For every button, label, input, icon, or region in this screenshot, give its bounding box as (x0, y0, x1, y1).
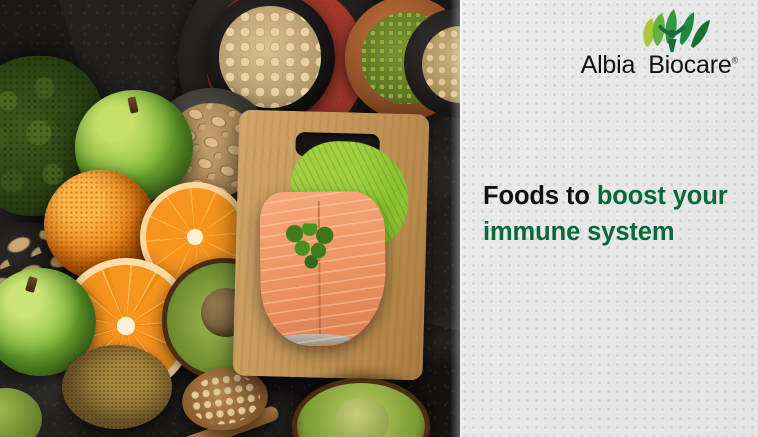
headline-accent-line2: immune system (483, 218, 674, 246)
parsley (285, 223, 344, 273)
registered-trademark-symbol: ® (732, 56, 738, 66)
headline-plain-text: Foods to (483, 182, 597, 210)
brand-name-part2: Biocare (648, 51, 731, 79)
panel-left-edge (460, 0, 462, 437)
soybeans (422, 26, 460, 103)
page-title: Foods to boost your immune system (483, 178, 743, 250)
headline-accent-line1: boost your (597, 182, 728, 210)
immune-foods-banner: AlbiaBiocare® Foods to boost your immune… (0, 0, 758, 437)
content-panel: AlbiaBiocare® Foods to boost your immune… (460, 0, 758, 437)
kiwi (62, 345, 172, 429)
cutting-board (233, 110, 430, 381)
salmon-skin (276, 333, 351, 344)
food-photo (0, 0, 460, 437)
brand-logo[interactable]: AlbiaBiocare® (558, 6, 738, 78)
leaf-person-logo-icon (636, 6, 710, 52)
brand-name-part1: Albia (581, 51, 636, 79)
brand-wordmark: AlbiaBiocare® (558, 53, 738, 78)
